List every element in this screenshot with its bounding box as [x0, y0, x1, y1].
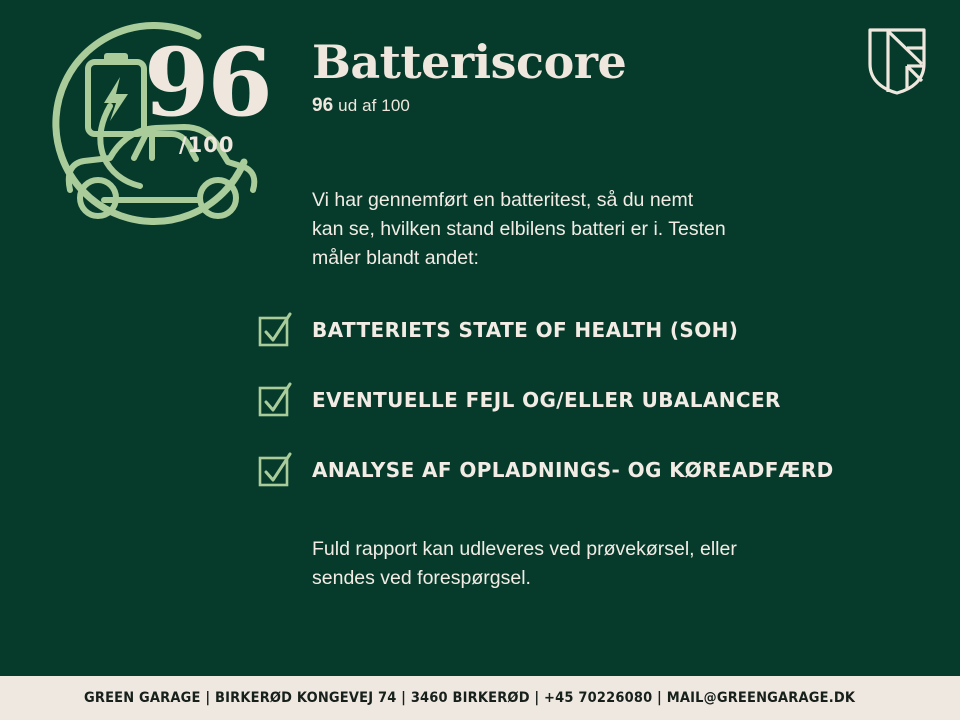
checklist-item: ANALYSE AF OPLADNINGS- OG KØREADFÆRD	[258, 446, 898, 494]
shield-icon	[866, 26, 928, 96]
intro-line-3: måler blandt andet:	[312, 244, 842, 273]
badge-score-denominator: /100	[179, 133, 235, 157]
batteriscore-infographic: 96 /100 Batteriscore 96 ud af 100 Vi har…	[0, 0, 960, 720]
checkbox-checked-icon	[258, 453, 292, 487]
score-subtitle: 96 ud af 100	[312, 95, 852, 117]
closing-line-1: Fuld rapport kan udleveres ved prøvekørs…	[312, 535, 852, 564]
closing-paragraph: Fuld rapport kan udleveres ved prøvekørs…	[312, 535, 852, 593]
checklist-item-label: EVENTUELLE FEJL OG/ELLER UBALANCER	[312, 388, 781, 412]
closing-line-2: sendes ved forespørgsel.	[312, 564, 852, 593]
battery-bolt-icon	[88, 53, 144, 134]
checklist-item-label: ANALYSE AF OPLADNINGS- OG KØREADFÆRD	[312, 458, 834, 482]
score-subtitle-suffix: ud af 100	[338, 96, 410, 115]
checklist-item-label: BATTERIETS STATE OF HEALTH (SOH)	[312, 318, 738, 342]
badge-score-value: 96	[144, 36, 271, 130]
checklist-item: EVENTUELLE FEJL OG/ELLER UBALANCER	[258, 376, 898, 424]
green-garage-crest-logo	[866, 26, 928, 96]
score-subtitle-value: 96	[312, 95, 333, 116]
footer-bar: GREEN GARAGE | BIRKERØD KONGEVEJ 74 | 34…	[0, 676, 960, 720]
checklist: BATTERIETS STATE OF HEALTH (SOH) EVENTUE…	[258, 306, 898, 516]
intro-line-2: kan se, hvilken stand elbilens batteri e…	[312, 215, 842, 244]
headline-block: Batteriscore 96 ud af 100	[312, 38, 852, 117]
checkbox-checked-icon	[258, 383, 292, 417]
footer-contact-text: GREEN GARAGE | BIRKERØD KONGEVEJ 74 | 34…	[84, 690, 855, 706]
page-title: Batteriscore	[312, 38, 852, 86]
intro-line-1: Vi har gennemført en batteritest, så du …	[312, 186, 842, 215]
intro-paragraph: Vi har gennemført en batteritest, så du …	[312, 186, 842, 273]
checkbox-checked-icon	[258, 313, 292, 347]
checklist-item: BATTERIETS STATE OF HEALTH (SOH)	[258, 306, 898, 354]
score-badge: 96 /100	[48, 22, 288, 234]
